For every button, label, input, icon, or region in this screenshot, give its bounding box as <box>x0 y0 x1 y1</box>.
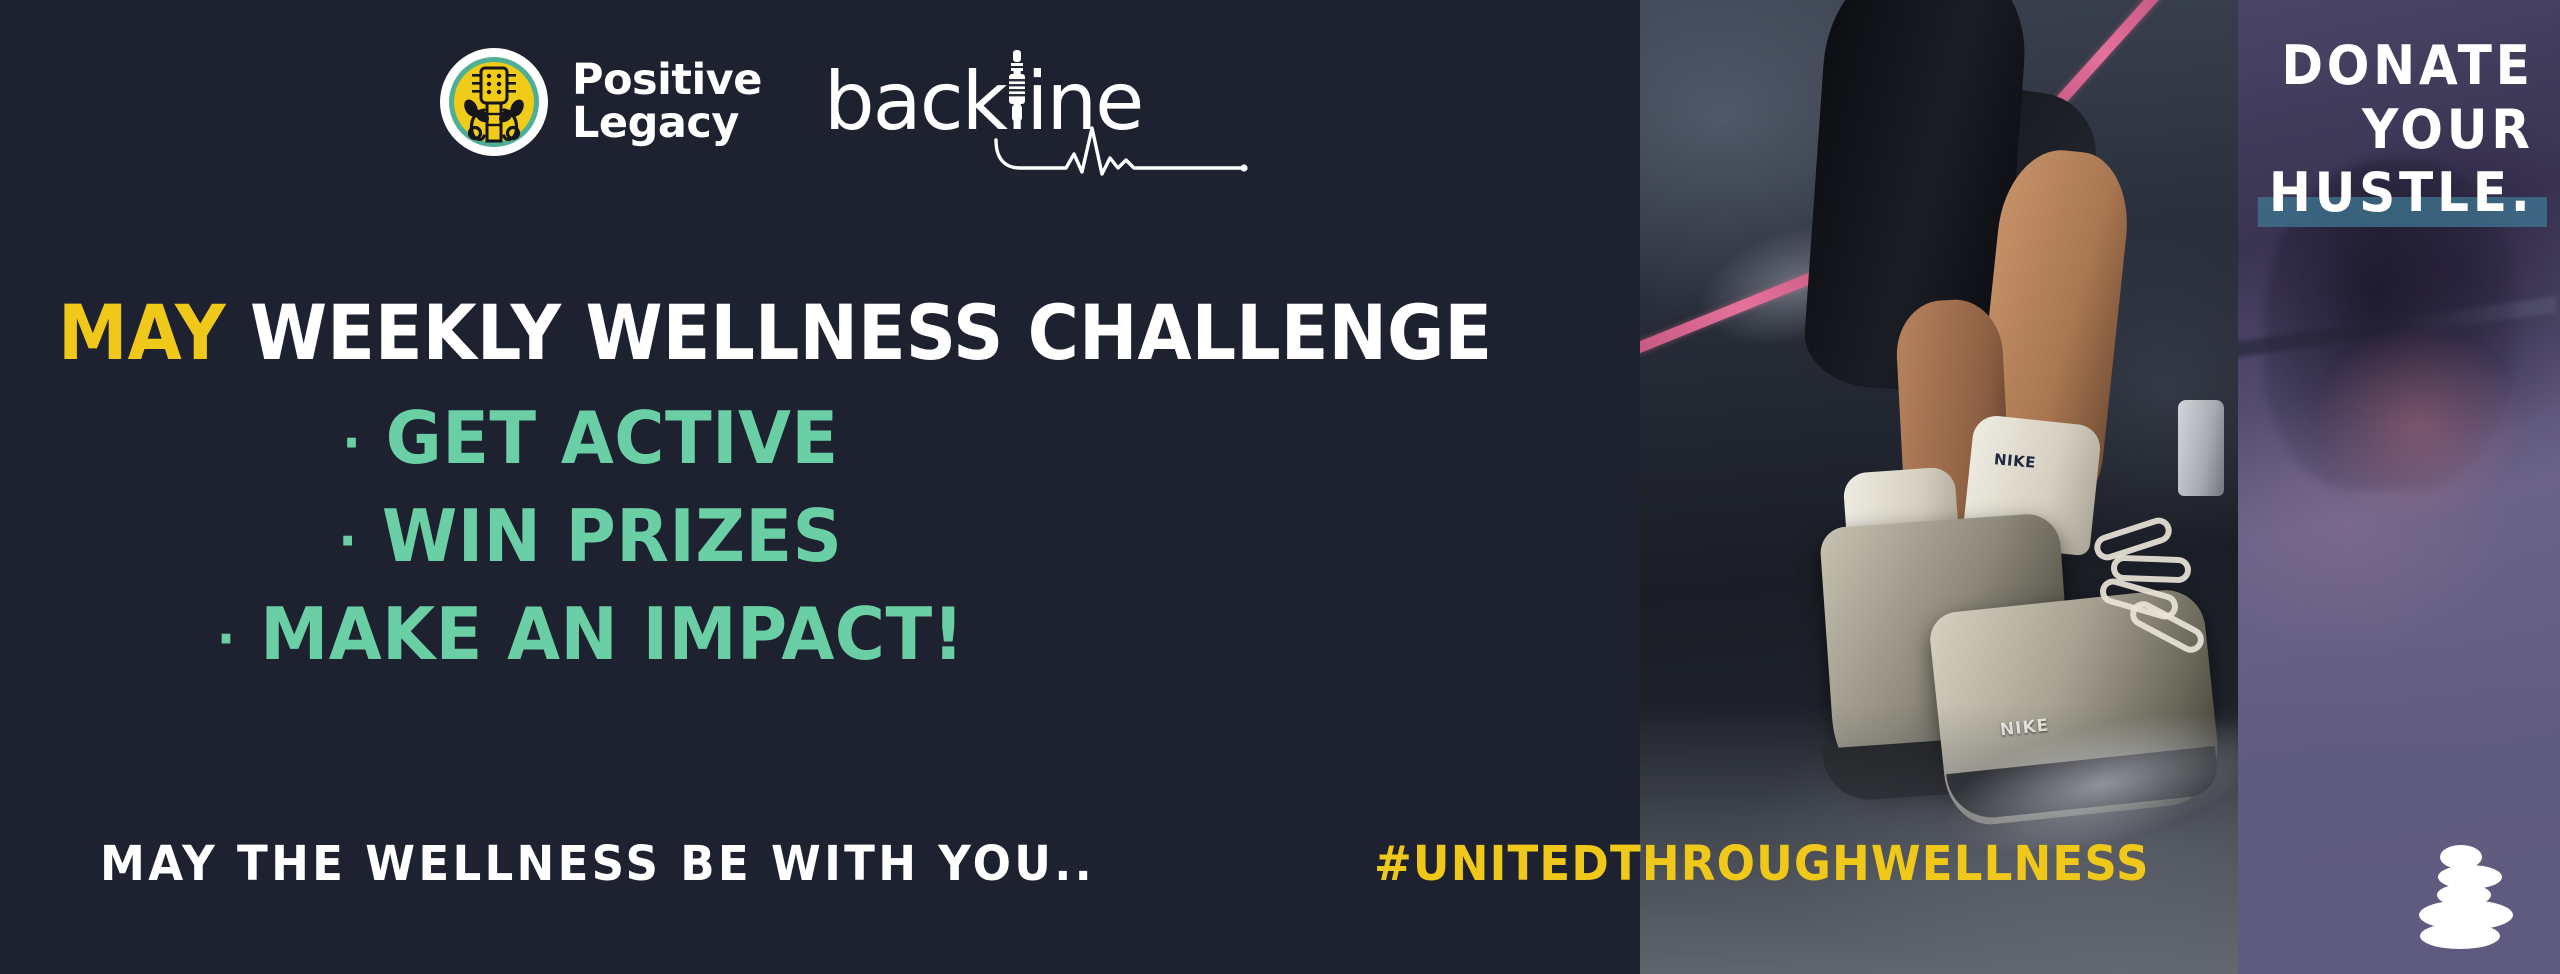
positive-legacy-line-2: Legacy <box>572 102 762 145</box>
backline-wordmark: backline <box>824 62 1143 142</box>
campaign-hashtag: #UNITEDTHROUGHWELLNESS <box>1374 836 2150 892</box>
left-content-panel: Positive Legacy backline <box>0 0 1640 974</box>
donate-your-hustle-headline: DONATE YOUR HUSTLE. <box>2249 34 2534 225</box>
bullet-icon: · <box>342 413 361 473</box>
photo-athlete-highlight <box>2318 330 2518 520</box>
positive-legacy-logo[interactable]: Positive Legacy <box>440 48 762 156</box>
bullet-icon: · <box>338 511 357 571</box>
backline-logo[interactable]: backline <box>824 62 1143 142</box>
list-item-label: WIN PRIZES <box>382 494 843 578</box>
donate-your-hustle-panel: DONATE YOUR HUSTLE. <box>2238 0 2560 974</box>
list-item-label: GET ACTIVE <box>385 396 838 480</box>
sock-brand-label: NIKE <box>1993 450 2036 472</box>
water-bottle <box>2178 400 2224 496</box>
hustle-line-2: YOUR <box>2269 98 2534 162</box>
jump-rope-photo: NIKE NIKE <box>1638 0 2238 974</box>
logo-row: Positive Legacy backline <box>440 48 1142 156</box>
headline-rest: WEEKLY WELLNESS CHALLENGE <box>226 288 1492 377</box>
headline-accent-word: MAY <box>58 288 226 377</box>
list-item-label: MAKE AN IMPACT! <box>260 592 964 676</box>
list-item: · MAKE AN IMPACT! <box>216 596 964 674</box>
positive-legacy-wordmark: Positive Legacy <box>572 59 762 144</box>
benefits-list: · GET ACTIVE · WIN PRIZES · MAKE AN IMPA… <box>0 400 1180 673</box>
hustle-line-1: DONATE <box>2269 34 2534 98</box>
stacked-stones-cairn-icon[interactable] <box>2412 841 2524 954</box>
positive-legacy-line-1: Positive <box>572 59 762 102</box>
footer-tagline: MAY THE WELLNESS BE WITH YOU.. <box>100 836 1095 892</box>
wellness-challenge-banner: Positive Legacy backline <box>0 0 2560 974</box>
shoe-laces <box>2093 520 2238 650</box>
list-item: · WIN PRIZES <box>338 498 842 576</box>
hustle-line-3: HUSTLE. <box>2269 161 2534 225</box>
guitar-headstock-leaves-badge-icon <box>440 48 548 156</box>
bullet-icon: · <box>216 609 235 669</box>
list-item: · GET ACTIVE <box>342 400 839 478</box>
page-title: MAY WEEKLY WELLNESS CHALLENGE <box>58 288 1492 377</box>
audio-jack-plug-icon <box>1002 50 1032 147</box>
